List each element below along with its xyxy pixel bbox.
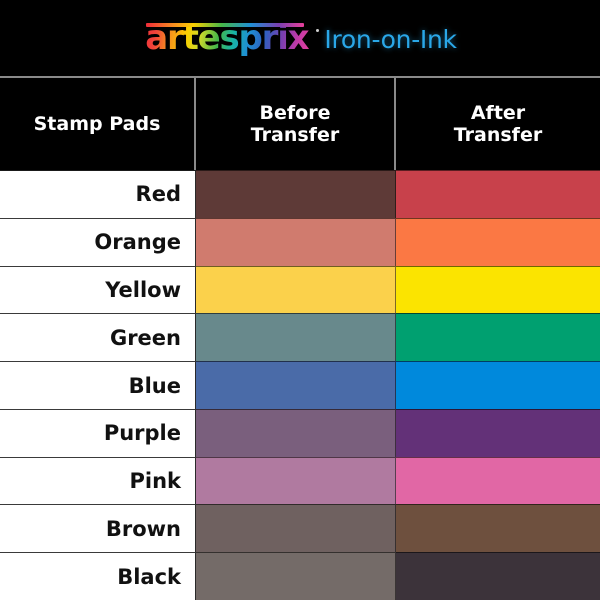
swatch-before-pink (196, 457, 396, 505)
column-header-after-line1: After (454, 102, 542, 124)
swatch-before-yellow (196, 266, 396, 314)
swatch-after-black (396, 552, 600, 600)
page-root: artesprix Iron-on-Ink Stamp Pads Before … (0, 0, 600, 600)
column-header-after-transfer: After Transfer (396, 78, 600, 170)
row-label-text: Purple (104, 421, 181, 445)
table-body: RedOrangeYellowGreenBluePurplePinkBrownB… (0, 170, 600, 600)
row-label-text: Pink (129, 469, 181, 493)
table-row: Purple (0, 409, 600, 457)
column-header-stamp-pads-label: Stamp Pads (34, 113, 161, 135)
brand-header: artesprix Iron-on-Ink (0, 0, 600, 76)
table-row: Blue (0, 361, 600, 409)
artesprix-logo: artesprix (143, 21, 310, 55)
swatch-after-pink (396, 457, 600, 505)
column-header-before-transfer: Before Transfer (196, 78, 396, 170)
table-row: Pink (0, 457, 600, 505)
swatch-before-green (196, 313, 396, 361)
column-header-before-line2: Transfer (251, 124, 339, 146)
table-row: Black (0, 552, 600, 600)
table-row: Orange (0, 218, 600, 266)
row-label-brown: Brown (0, 504, 196, 552)
row-label-black: Black (0, 552, 196, 600)
swatch-after-red (396, 170, 600, 218)
table-header-row: Stamp Pads Before Transfer After Transfe… (0, 78, 600, 170)
table-row: Yellow (0, 266, 600, 314)
column-header-stamp-pads: Stamp Pads (0, 78, 196, 170)
brand-tagline: Iron-on-Ink (324, 27, 456, 52)
swatch-after-orange (396, 218, 600, 266)
swatch-before-orange (196, 218, 396, 266)
row-label-red: Red (0, 170, 196, 218)
row-label-purple: Purple (0, 409, 196, 457)
row-label-orange: Orange (0, 218, 196, 266)
row-label-text: Red (136, 182, 181, 206)
swatch-after-yellow (396, 266, 600, 314)
swatch-after-blue (396, 361, 600, 409)
column-header-before-line1: Before (251, 102, 339, 124)
row-label-text: Yellow (105, 278, 181, 302)
row-label-text: Blue (129, 374, 181, 398)
row-label-text: Brown (106, 517, 181, 541)
swatch-before-purple (196, 409, 396, 457)
swatch-before-brown (196, 504, 396, 552)
swatch-after-green (396, 313, 600, 361)
trademark-dot-icon (316, 29, 319, 32)
table-row: Red (0, 170, 600, 218)
row-label-yellow: Yellow (0, 266, 196, 314)
row-label-blue: Blue (0, 361, 196, 409)
stamp-pad-color-table: Stamp Pads Before Transfer After Transfe… (0, 76, 600, 600)
row-label-text: Black (117, 565, 181, 589)
swatch-before-blue (196, 361, 396, 409)
swatch-before-black (196, 552, 396, 600)
table-row: Green (0, 313, 600, 361)
column-header-after-line2: Transfer (454, 124, 542, 146)
row-label-pink: Pink (0, 457, 196, 505)
swatch-after-purple (396, 409, 600, 457)
table-row: Brown (0, 504, 600, 552)
logo-rainbow-bar-icon (146, 23, 304, 27)
swatch-before-red (196, 170, 396, 218)
row-label-text: Orange (94, 230, 181, 254)
row-label-text: Green (110, 326, 181, 350)
swatch-after-brown (396, 504, 600, 552)
row-label-green: Green (0, 313, 196, 361)
